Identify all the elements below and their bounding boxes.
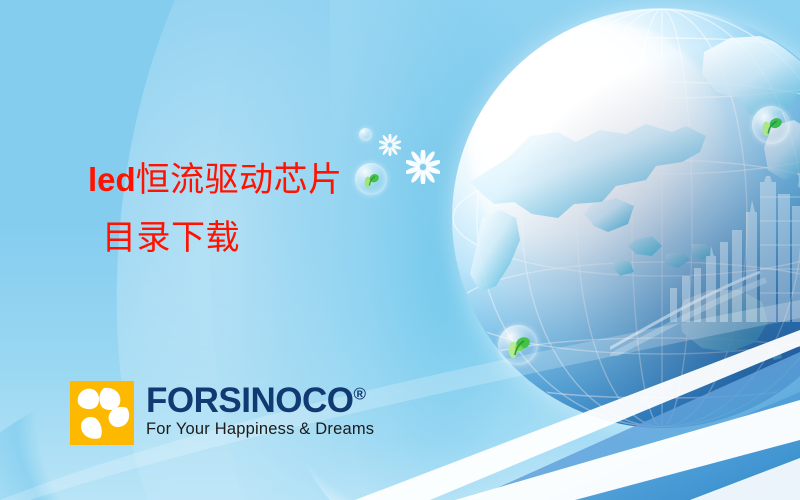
green-sprout-icon (355, 163, 387, 195)
white-flower-small (379, 134, 401, 156)
company-logo: FORSINOCO® For Your Happiness & Dreams (70, 381, 374, 445)
logo-text-block: FORSINOCO® For Your Happiness & Dreams (146, 381, 374, 439)
forsinoco-pinwheel-mark (70, 381, 134, 445)
logo-tagline: For Your Happiness & Dreams (146, 420, 374, 439)
registered-trademark-icon: ® (353, 384, 365, 403)
green-sprout-icon (752, 106, 790, 144)
headline-line-1: led恒流驱动芯片 (88, 162, 343, 199)
bubble-plain-small (359, 128, 372, 141)
green-sprout-icon (498, 325, 538, 365)
page-title: led恒流驱动芯片 目录下载 (88, 163, 343, 256)
pinwheel-petals-icon (70, 381, 134, 445)
logo-company-name-text: FORSINOCO (146, 381, 353, 420)
bubble-sprout-top-right (752, 106, 790, 144)
headline-cjk-text: 恒流驱动芯片 (136, 162, 343, 199)
headline-line-2: 目录下载 (102, 222, 343, 256)
white-flower-large (406, 150, 440, 184)
bubble-sprout-center (498, 325, 538, 365)
headline-latin-prefix: led (88, 161, 136, 198)
bubble-sprout-left (355, 163, 387, 195)
logo-company-name: FORSINOCO® (146, 384, 374, 418)
marketing-banner: led恒流驱动芯片 目录下载 FORSINOCO® For Your Happi… (0, 0, 800, 500)
